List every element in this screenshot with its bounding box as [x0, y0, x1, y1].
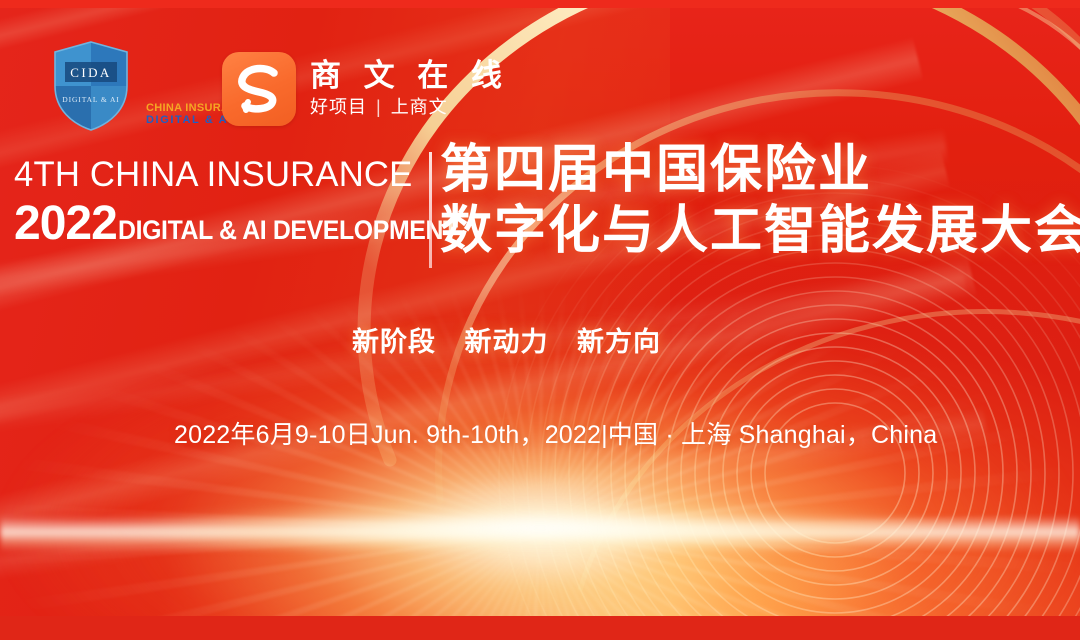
shield-icon: CIDA DIGITAL & AI — [51, 40, 131, 132]
s-brush-icon — [222, 52, 296, 126]
top-accent-bar — [0, 0, 1080, 8]
title-chinese-line1: 第四届中国保险业 — [440, 140, 1080, 201]
svg-text:CIDA: CIDA — [70, 65, 111, 80]
title-chinese: 第四届中国保险业 数字化与人工智能发展大会 — [440, 140, 1080, 263]
title-divider — [429, 152, 432, 268]
partner-tagline: 好项目 | 上商文 — [310, 96, 509, 119]
horizon-core-glow-decor — [0, 493, 1080, 563]
bottom-accent-bar — [0, 616, 1080, 640]
partner-tagline-separator: | — [376, 96, 382, 119]
conference-banner: CIDA DIGITAL & AI CHINA INSURANCE DIGITA… — [0, 0, 1080, 640]
title-chinese-line2: 数字化与人工智能发展大会 — [440, 201, 1080, 262]
slogan-item-1: 新阶段 — [352, 327, 436, 357]
svg-text:DIGITAL & AI: DIGITAL & AI — [62, 95, 119, 104]
partner-name: 商 文 在 线 — [310, 59, 509, 94]
title-year: 2022 — [14, 200, 117, 248]
slogan-item-3: 新方向 — [577, 327, 661, 357]
partner-tagline-right: 上商文 — [391, 96, 448, 119]
title-english-line1: 4TH CHINA INSURANCE — [14, 157, 410, 192]
title-english: 4TH CHINA INSURANCE 2022 DIGITAL & AI DE… — [14, 157, 414, 248]
partner-tagline-left: 好项目 — [310, 96, 367, 119]
title-english-tagline: DIGITAL & AI DEVELOPMENT — [118, 217, 458, 244]
slogan-item-2: 新动力 — [465, 327, 549, 357]
title-english-line2: 2022 DIGITAL & AI DEVELOPMENT — [14, 200, 414, 248]
slogan: 新阶段 新动力 新方向 — [352, 320, 661, 359]
partner-logo-text: 商 文 在 线 好项目 | 上商文 — [310, 59, 509, 119]
cida-logo[interactable]: CIDA DIGITAL & AI CHINA INSURANCE DIGITA… — [48, 40, 198, 145]
partner-logo[interactable]: 商 文 在 线 好项目 | 上商文 — [222, 52, 509, 126]
date-location: 2022年6月9-10日Jun. 9th-10th，2022|中国 · 上海 S… — [174, 415, 937, 451]
